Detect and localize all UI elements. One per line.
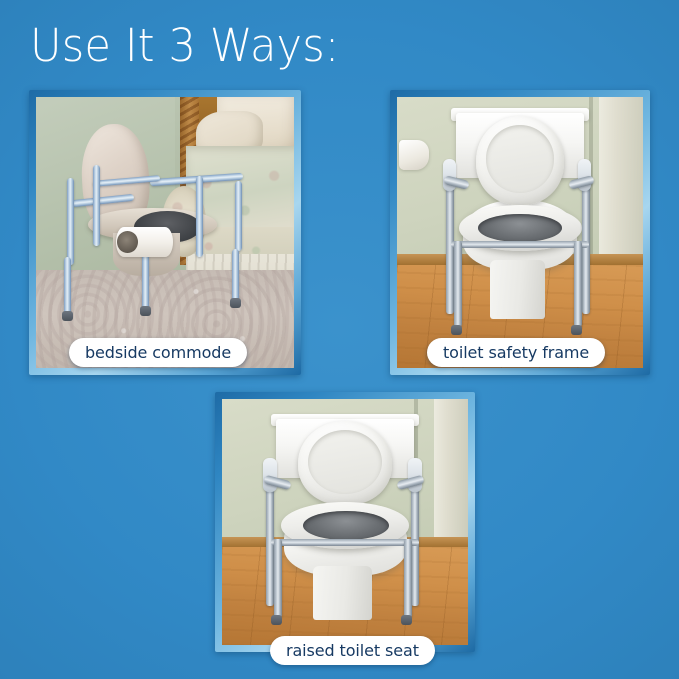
- commode-right-leg-extension: [232, 249, 239, 303]
- photo-frame-raised-toilet-seat: [215, 392, 475, 652]
- safety-frame-right-leg: [574, 241, 582, 328]
- commode-left-leg-extension: [64, 257, 71, 317]
- safety-frame-right-foot: [571, 325, 582, 335]
- promo-graphic: Use It 3 Ways:: [0, 0, 679, 679]
- toilet-seat-opening: [478, 214, 562, 242]
- safety-frame-left-leg: [454, 241, 462, 328]
- toilet-lid-inner: [486, 125, 555, 193]
- photo-frame-bedside-commode: [29, 90, 301, 375]
- commode-left-rear-post: [93, 165, 100, 246]
- safety-frame-left-foot: [271, 615, 282, 625]
- photo-bedside-commode: [36, 97, 294, 368]
- commode-right-rear-post: [196, 176, 203, 257]
- commode-left-foot: [62, 311, 73, 321]
- safety-frame-left-foot: [451, 325, 462, 335]
- safety-frame-cross-bar: [451, 241, 589, 248]
- photo-frame-toilet-safety-frame: [390, 90, 650, 375]
- caption-toilet-safety-frame: toilet safety frame: [427, 338, 605, 367]
- toilet-pedestal: [313, 566, 372, 620]
- photo-raised-toilet-seat: [222, 399, 468, 645]
- safety-frame-cross-bar: [271, 539, 419, 546]
- commode-right-foot: [230, 298, 241, 308]
- commode-center-foot: [140, 306, 151, 316]
- photo-scene-raised-toilet-seat: [222, 399, 468, 645]
- safety-frame-left-leg: [274, 539, 282, 618]
- wall-toilet-paper-holder: [399, 140, 429, 170]
- commode-left-front-post: [67, 178, 74, 265]
- caption-bedside-commode: bedside commode: [69, 338, 247, 367]
- toilet-pedestal: [490, 260, 544, 320]
- page-title: Use It 3 Ways:: [30, 20, 339, 72]
- toilet-paper-core: [117, 231, 138, 253]
- safety-frame-right-leg: [404, 539, 412, 618]
- toilet-lid-inner: [308, 430, 382, 494]
- photo-toilet-safety-frame: [397, 97, 643, 368]
- commode-right-front-post: [235, 181, 242, 251]
- photo-scene-toilet-safety-frame: [397, 97, 643, 368]
- safety-frame-right-foot: [401, 615, 412, 625]
- photo-scene-bedside-commode: [36, 97, 294, 368]
- caption-raised-toilet-seat: raised toilet seat: [270, 636, 435, 665]
- commode-center-leg: [142, 251, 149, 311]
